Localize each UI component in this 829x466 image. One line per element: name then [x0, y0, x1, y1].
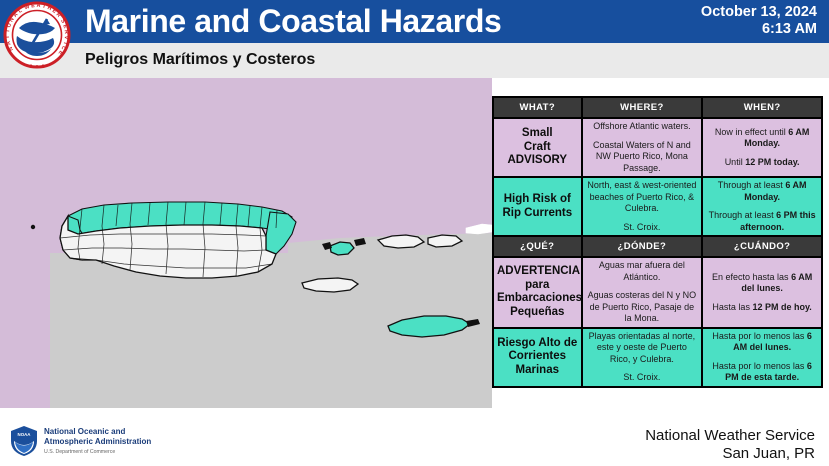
hazard-when-cell: Through at least 6 AM Monday.Through at … — [702, 177, 822, 236]
hazard-name-cell: SmallCraftADVISORY — [493, 118, 582, 177]
noaa-department-line: U.S. Department of Commerce — [44, 448, 151, 458]
hazard-where-cell: Offshore Atlantic waters.Coastal Waters … — [582, 118, 703, 177]
page-title: Marine and Coastal Hazards — [85, 2, 501, 41]
office-location: San Juan, PR — [645, 445, 815, 463]
svg-text:R: R — [63, 30, 69, 35]
hazard-name-cell: ADVERTENCIAparaEmbarcacionesPequeñas — [493, 257, 582, 328]
column-header-donde: ¿DÓNDE? — [582, 236, 703, 257]
column-header-when: WHEN? — [702, 97, 822, 118]
office-name: National Weather Service — [645, 427, 815, 445]
table-row: Riesgo Alto deCorrientesMarinas Playas o… — [493, 328, 822, 387]
hazard-when-cell: En efecto hasta las 6 AM del lunes.Hasta… — [702, 257, 822, 328]
hazard-name-cell: High Risk ofRip Currents — [493, 177, 582, 236]
noaa-line-2: Atmospheric Administration — [44, 437, 151, 447]
hazard-when-cell: Hasta por lo menos las 6 AM del lunes.Ha… — [702, 328, 822, 387]
table-row: SmallCraftADVISORY Offshore Atlantic wat… — [493, 118, 822, 177]
issue-time: 6:13 AM — [701, 21, 817, 38]
hazard-map — [0, 78, 492, 408]
nws-seal-icon: N A T I O N A L W E A T H E R S E R V I … — [3, 1, 71, 69]
noaa-wordmark: National Oceanic and Atmospheric Adminis… — [44, 427, 151, 458]
table-row: High Risk ofRip Currents North, east & w… — [493, 177, 822, 236]
column-header-what: WHAT? — [493, 97, 582, 118]
issuing-office: National Weather Service San Juan, PR — [645, 427, 815, 463]
column-header-where: WHERE? — [582, 97, 703, 118]
svg-text:NOAA: NOAA — [18, 432, 32, 437]
hazard-when-cell: Now in effect until 6 AM Monday.Until 12… — [702, 118, 822, 177]
hazard-where-cell: North, east & west-oriented beaches of P… — [582, 177, 703, 236]
mona-island — [31, 225, 35, 229]
noaa-line-1: National Oceanic and — [44, 427, 151, 437]
issue-date: October 13, 2024 — [701, 4, 817, 21]
column-header-cuando: ¿CUÁNDO? — [702, 236, 822, 257]
column-header-que: ¿QUÉ? — [493, 236, 582, 257]
hazard-where-cell: Playas orientadas al norte, este y oeste… — [582, 328, 703, 387]
svg-text:A: A — [36, 3, 40, 9]
table-header-row-english: WHAT? WHERE? WHEN? — [493, 97, 822, 118]
footer: NOAA National Oceanic and Atmospheric Ad… — [0, 418, 829, 466]
hazard-table: WHAT? WHERE? WHEN? SmallCraftADVISORY Of… — [492, 96, 823, 388]
puerto-rico-hazard-map-svg — [0, 78, 492, 408]
hazard-where-cell: Aguas mar afuera del Atlántico.Aguas cos… — [582, 257, 703, 328]
hazard-table-body: WHAT? WHERE? WHEN? SmallCraftADVISORY Of… — [493, 97, 822, 387]
hazard-name-cell: Riesgo Alto deCorrientesMarinas — [493, 328, 582, 387]
table-row: ADVERTENCIAparaEmbarcacionesPequeñas Agu… — [493, 257, 822, 328]
noaa-logo-icon: NOAA — [10, 426, 38, 456]
table-header-row-spanish: ¿QUÉ? ¿DÓNDE? ¿CUÁNDO? — [493, 236, 822, 257]
page-subtitle: Peligros Marítimos y Costeros — [85, 44, 315, 76]
header-datetime: October 13, 2024 6:13 AM — [701, 4, 817, 38]
